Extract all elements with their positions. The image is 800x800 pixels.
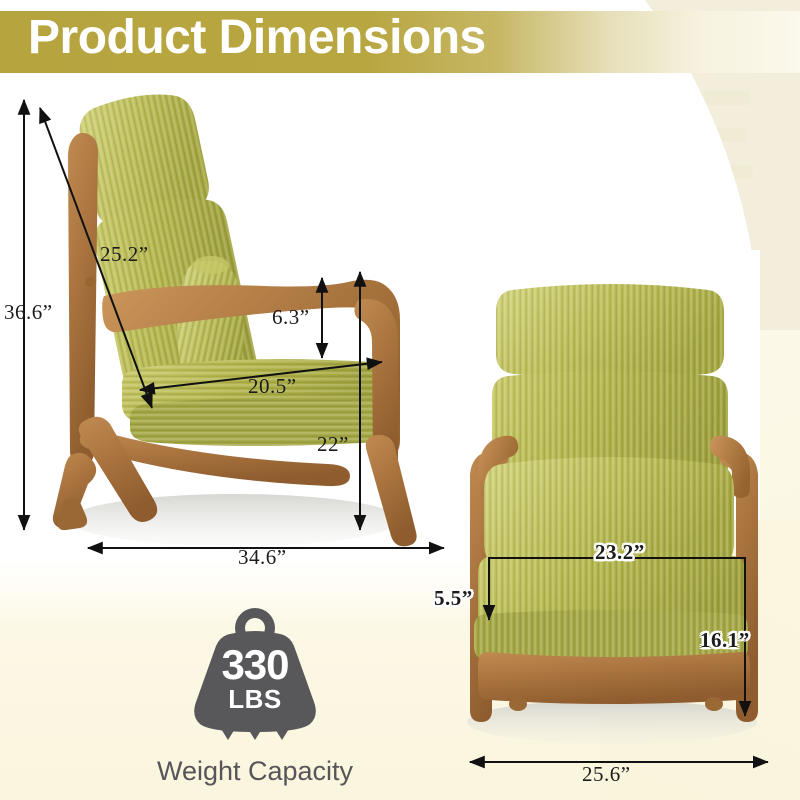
weight-capacity-caption: Weight Capacity: [130, 756, 380, 787]
label-overall-width: 25.6”: [582, 762, 631, 787]
page-title: Product Dimensions: [28, 14, 486, 62]
label-overall-height: 36.6”: [4, 300, 53, 325]
weight-capacity-block: 330 LBS Weight Capacity: [130, 600, 380, 787]
label-seat-depth: 20.5”: [248, 374, 297, 399]
label-backrest-height: 25.2”: [100, 242, 149, 267]
label-back-height-from-floor: 22”: [317, 432, 349, 457]
weight-icon-wrap: 330 LBS: [130, 600, 380, 750]
label-overall-depth: 34.6”: [238, 545, 287, 570]
arrow-down-3: [272, 724, 292, 740]
weight-number: 330: [130, 644, 380, 686]
label-seat-width: 23.2”: [595, 540, 645, 565]
arrow-down-2: [245, 724, 265, 740]
arrow-down-1: [218, 724, 238, 740]
infographic-canvas: SIZE Product Dimensions: [0, 0, 800, 800]
background-white-lower: [0, 300, 470, 590]
label-cushion-thickness: 5.5”: [434, 586, 473, 611]
label-seat-height: 16.1”: [700, 628, 750, 653]
label-armrest-to-seat: 6.3”: [272, 305, 310, 330]
weight-unit: LBS: [130, 686, 380, 712]
